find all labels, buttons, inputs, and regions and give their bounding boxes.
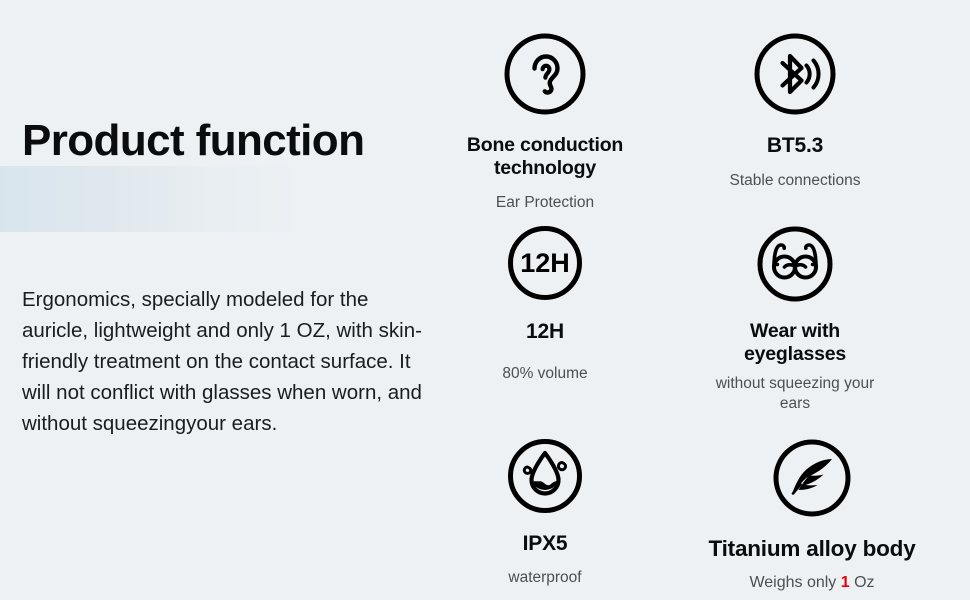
12h-text-icon: 12H [450,222,640,309]
feature-waterproof: IPX5 waterproof [450,435,640,588]
feature-subtitle: Stable connections [700,171,890,190]
feature-grid: Bone conduction technology Ear Protectio… [450,0,970,600]
feature-eyeglasses: Wear with eyeglasses without squeezing y… [700,222,890,413]
feature-subtitle: 80% volume [450,364,640,383]
feature-subtitle: without squeezing your ears [700,374,890,413]
feature-battery-life: 12H 12H 80% volume [450,222,640,384]
page-title: Product function [22,117,364,165]
12h-icon-text: 12H [520,248,570,278]
feature-title: BT5.3 [700,134,890,158]
feature-title: 12H [450,320,640,344]
bluetooth-icon [700,28,890,125]
weight-prefix: Weighs only [749,574,840,591]
ear-icon [450,28,640,125]
feature-title: Titanium alloy body [682,536,942,562]
feature-titanium-body: Titanium alloy body Weighs only 1 Oz [682,435,942,593]
water-drop-icon [450,435,640,522]
feature-title: Wear with eyeglasses [700,320,890,365]
weight-unit: Oz [850,574,875,591]
weight-value: 1 [841,574,850,591]
feature-title: Bone conduction technology [450,134,640,179]
feature-subtitle: Weighs only 1 Oz [682,573,942,593]
eyeglasses-icon [700,222,890,311]
accent-gradient-band [0,166,300,232]
feature-bone-conduction: Bone conduction technology Ear Protectio… [450,28,640,213]
feature-subtitle: waterproof [450,568,640,587]
feather-icon [682,435,942,526]
feature-subtitle: Ear Protection [450,193,640,212]
feature-bluetooth: BT5.3 Stable connections [700,28,890,191]
product-description: Ergonomics, specially modeled for the au… [22,284,432,439]
left-intro-panel: Product function Ergonomics, specially m… [0,0,450,600]
feature-title: IPX5 [450,532,640,556]
